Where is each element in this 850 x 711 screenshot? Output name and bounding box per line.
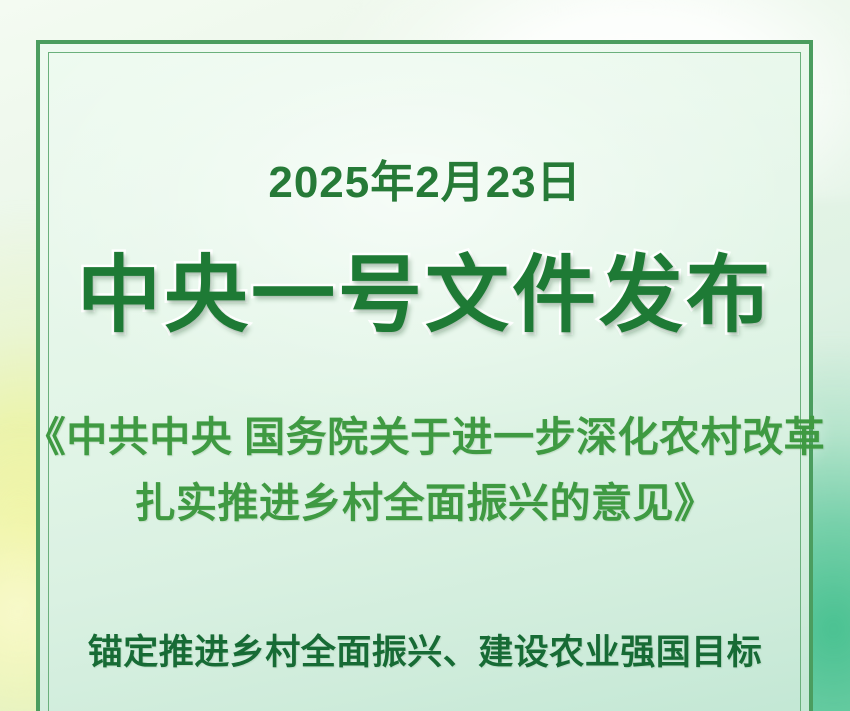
poster-subtitle: 锚定推进乡村全面振兴、建设农业强国目标 [0,624,850,675]
poster-canvas: 2025年2月23日 中央一号文件发布 《中共中央 国务院关于进一步深化农村改革… [0,0,850,711]
page-title: 中央一号文件发布 [0,250,850,341]
document-title: 《中共中央 国务院关于进一步深化农村改革 扎实推进乡村全面振兴的意见》 [0,404,850,537]
document-title-line-1: 《中共中央 国务院关于进一步深化农村改革 [0,404,850,470]
document-title-line-2: 扎实推进乡村全面振兴的意见》 [0,470,850,536]
publication-date: 2025年2月23日 [0,146,850,210]
poster-content: 2025年2月23日 中央一号文件发布 《中共中央 国务院关于进一步深化农村改革… [0,0,850,711]
